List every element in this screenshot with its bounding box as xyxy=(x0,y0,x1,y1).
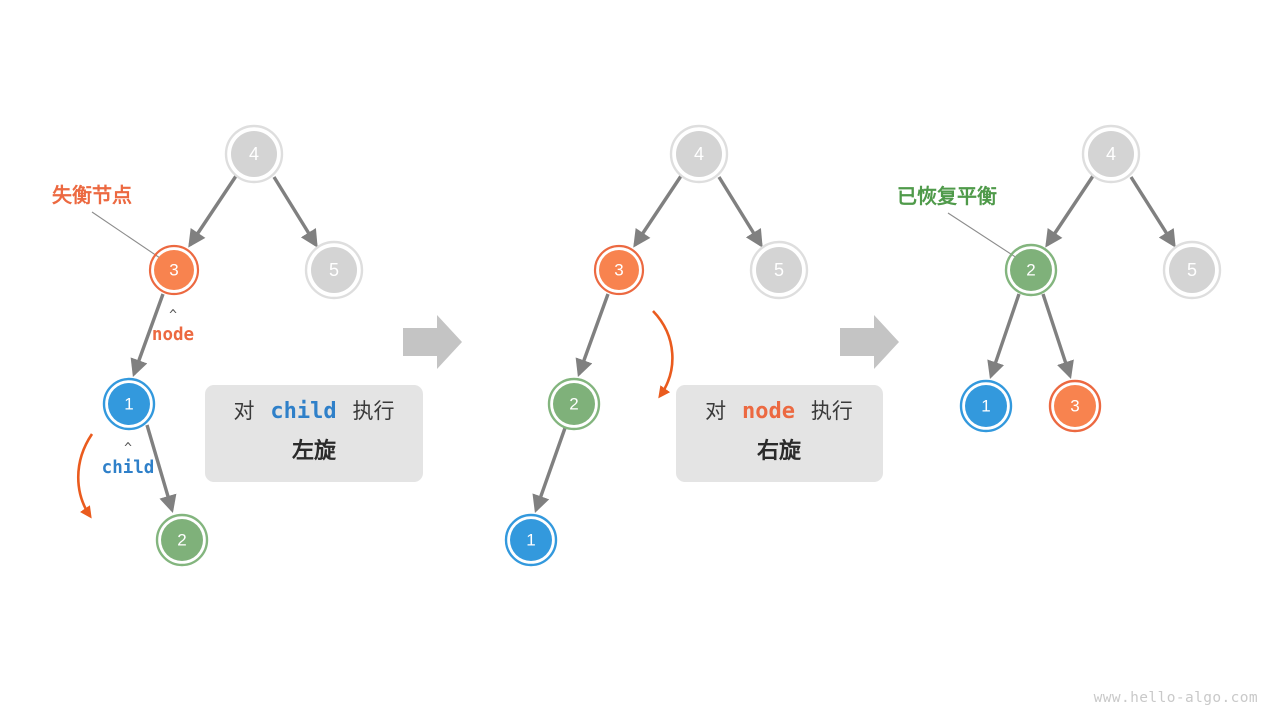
caption-suffix: 执行 xyxy=(352,400,394,423)
node-3-orange-before[interactable]: 3 xyxy=(150,246,198,294)
node-label: 2 xyxy=(177,531,186,550)
panel-middle: 4 3 5 2 1 对 node 执行 xyxy=(506,126,883,565)
panel-before: 失衡节点 4 3 5 1 2 ^ xyxy=(52,126,423,565)
node-2-green-before[interactable]: 2 xyxy=(157,515,207,565)
node-3-orange-after[interactable]: 3 xyxy=(1050,381,1100,431)
node-4-gray-before[interactable]: 4 xyxy=(226,126,282,182)
node-label: 1 xyxy=(124,395,133,414)
node-label: 3 xyxy=(169,261,178,280)
caption-prefix: 对 xyxy=(705,400,726,423)
annotation-leader-line-after xyxy=(948,213,1017,258)
node-label: 4 xyxy=(1106,144,1116,164)
child-pointer-caret: ^ xyxy=(124,441,132,456)
annotation-unbalanced-node: 失衡节点 xyxy=(52,183,132,207)
node-4-gray-middle[interactable]: 4 xyxy=(671,126,727,182)
node-label: 5 xyxy=(1187,260,1197,280)
caption-prefix: 对 xyxy=(234,400,255,423)
step-arrow-2 xyxy=(840,315,899,369)
node-pointer-caret: ^ xyxy=(169,308,177,323)
pointer-label-node: node xyxy=(152,325,194,345)
right-rotation-curved-arrow xyxy=(653,311,672,396)
node-label: 4 xyxy=(249,144,259,164)
node-5-gray-before[interactable]: 5 xyxy=(306,242,362,298)
pointer-label-child: child xyxy=(102,458,155,478)
caption-box-left-rotation: 对 child 执行 左旋 xyxy=(205,385,423,482)
avl-rotation-diagram: 失衡节点 4 3 5 1 2 ^ xyxy=(0,0,1280,720)
node-5-gray-after[interactable]: 5 xyxy=(1164,242,1220,298)
annotation-leader-line-before xyxy=(92,212,160,258)
panel-after: 已恢复平衡 4 2 5 1 3 xyxy=(897,126,1220,431)
node-1-blue-after[interactable]: 1 xyxy=(961,381,1011,431)
caption-suffix: 执行 xyxy=(811,400,853,423)
node-1-blue-before[interactable]: 1 xyxy=(104,379,154,429)
node-4-gray-after[interactable]: 4 xyxy=(1083,126,1139,182)
caption-line-1: 对 child 执行 xyxy=(234,399,395,424)
node-label: 3 xyxy=(614,261,623,280)
caption-code: node xyxy=(742,399,795,424)
edge-2-to-1 xyxy=(536,428,565,510)
node-label: 3 xyxy=(1070,397,1079,416)
node-label: 5 xyxy=(774,260,784,280)
edge-4-to-5 xyxy=(1131,177,1174,245)
node-label: 2 xyxy=(1026,261,1035,280)
node-label: 4 xyxy=(694,144,704,164)
edge-3-to-2 xyxy=(579,294,608,374)
edge-4-to-2 xyxy=(1047,176,1093,245)
watermark: www.hello-algo.com xyxy=(1094,690,1258,706)
node-1-blue-middle[interactable]: 1 xyxy=(506,515,556,565)
right-arrow-icon xyxy=(403,315,462,369)
edge-4-to-5 xyxy=(274,177,316,245)
node-2-green-middle[interactable]: 2 xyxy=(549,379,599,429)
edge-4-to-5 xyxy=(719,177,761,245)
left-rotation-curved-arrow xyxy=(78,434,92,516)
node-label: 1 xyxy=(981,397,990,416)
caption-box-right-rotation: 对 node 执行 右旋 xyxy=(676,385,883,482)
right-arrow-icon xyxy=(840,315,899,369)
caption-action: 右旋 xyxy=(757,438,802,463)
node-label: 2 xyxy=(569,395,578,414)
node-2-green-after[interactable]: 2 xyxy=(1006,245,1056,295)
node-label: 5 xyxy=(329,260,339,280)
caption-code: child xyxy=(270,399,336,424)
step-arrow-1 xyxy=(403,315,462,369)
caption-action: 左旋 xyxy=(292,438,337,463)
edge-2-to-1 xyxy=(991,294,1019,376)
caption-line-1: 对 node 执行 xyxy=(705,399,853,424)
node-5-gray-middle[interactable]: 5 xyxy=(751,242,807,298)
edge-2-to-3 xyxy=(1043,294,1070,376)
edge-4-to-3 xyxy=(190,176,236,245)
edge-4-to-3 xyxy=(635,176,681,245)
annotation-rebalanced: 已恢复平衡 xyxy=(897,184,997,208)
node-3-orange-middle[interactable]: 3 xyxy=(595,246,643,294)
node-label: 1 xyxy=(526,531,535,550)
